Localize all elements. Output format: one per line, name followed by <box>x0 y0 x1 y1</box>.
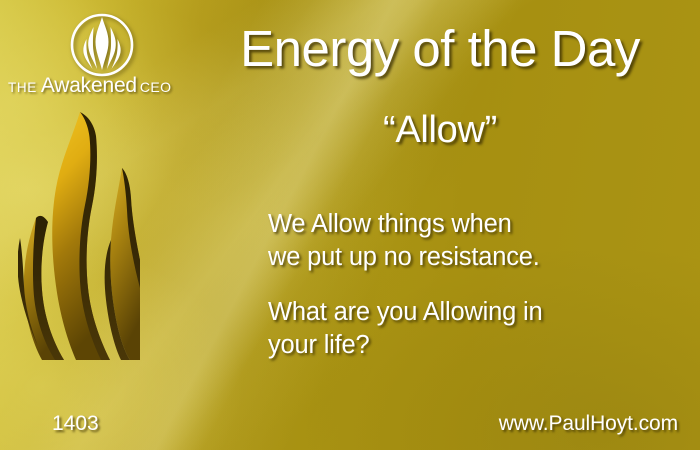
body-line: we put up no resistance. <box>268 243 540 271</box>
flame-icon <box>18 110 140 360</box>
flame-in-circle-icon <box>66 12 138 78</box>
body-line: your life? <box>268 331 369 359</box>
wordmark-main: Awakened <box>41 74 137 97</box>
brand-logo: THEAwakenedCEO <box>8 8 198 100</box>
page-subtitle: “Allow” <box>200 110 680 152</box>
energy-of-the-day-card: THEAwakenedCEO <box>0 0 700 450</box>
website-url[interactable]: www.PaulHoyt.com <box>499 412 678 436</box>
wordmark-ceo: CEO <box>140 79 172 95</box>
wordmark-the: THE <box>8 80 37 95</box>
body-line: We Allow things when <box>268 210 512 238</box>
body-text: We Allow things when we put up no resist… <box>268 208 668 363</box>
body-line: What are you Allowing in <box>268 298 542 326</box>
page-title: Energy of the Day <box>200 22 680 76</box>
issue-number: 1403 <box>52 412 99 436</box>
brand-wordmark: THEAwakenedCEO <box>8 74 198 98</box>
body-paragraph: We Allow things when we put up no resist… <box>268 208 668 274</box>
body-paragraph: What are you Allowing in your life? <box>268 296 668 362</box>
